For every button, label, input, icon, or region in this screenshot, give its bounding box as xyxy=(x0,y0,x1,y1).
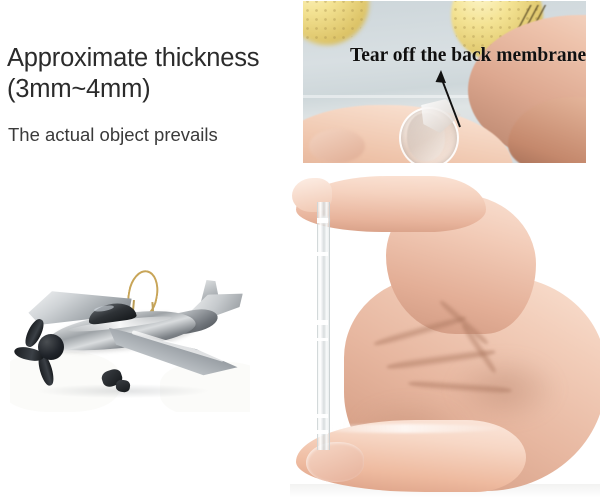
thumb-highlight xyxy=(310,424,500,433)
hand-holding-acrylic-photo xyxy=(290,168,600,498)
acrylic-sheet-reflection xyxy=(317,338,328,341)
acrylic-sheet-reflection xyxy=(317,252,328,256)
left-thumb-tip xyxy=(309,129,365,163)
disclaimer-text: The actual object prevails xyxy=(8,124,298,146)
up-left-arrow-icon xyxy=(429,67,469,129)
tear-membrane-caption: Tear off the back membrane xyxy=(350,45,586,67)
acrylic-sheet-reflection xyxy=(317,320,328,325)
acrylic-sheet-edge xyxy=(317,202,330,450)
yellow-ball-texture xyxy=(303,1,369,45)
acrylic-sheet-reflection xyxy=(317,218,328,223)
product-image-canvas: Approximate thickness (3mm~4mm) The actu… xyxy=(0,0,600,498)
airplane-ornament-photo xyxy=(10,252,250,412)
acrylic-sheet-reflection xyxy=(317,414,328,418)
tear-membrane-photo: Tear off the back membrane xyxy=(303,1,586,163)
propeller-hub xyxy=(38,334,64,360)
acrylic-sheet-reflection xyxy=(317,430,328,434)
airplane-landing-gear xyxy=(115,379,131,393)
thickness-headline: Approximate thickness (3mm~4mm) xyxy=(7,43,307,105)
thumb-tip xyxy=(306,442,364,482)
